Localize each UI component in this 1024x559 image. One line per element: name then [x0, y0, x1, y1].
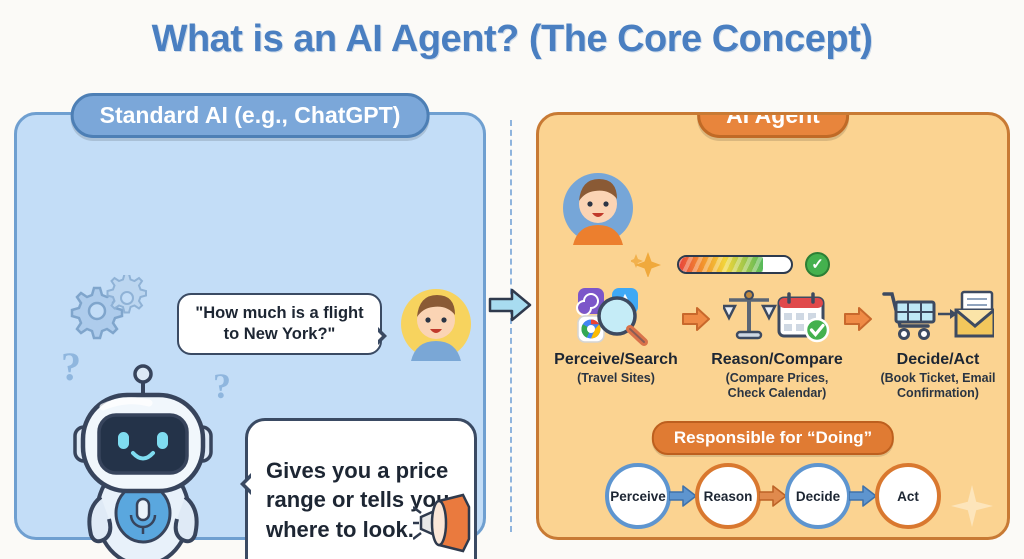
step-subtitle: (Book Ticket, Email Confirmation)	[873, 371, 1003, 401]
step-reason-icons	[711, 285, 843, 347]
step-reason-compare: Reason/Compare (Compare Prices, Check Ca…	[711, 285, 843, 401]
chain-node-decide: Decide	[785, 463, 851, 529]
calendar-check-icon	[779, 294, 828, 341]
step-title: Reason/Compare	[711, 351, 843, 369]
step-title: Decide/Act	[873, 351, 1003, 369]
user-avatar-icon	[561, 171, 635, 245]
step-arrow-icon	[843, 285, 873, 331]
chain-node-reason: Reason	[695, 463, 761, 529]
progress-bar-fill	[679, 257, 763, 272]
step-title: Perceive/Search	[551, 351, 681, 369]
ai-agent-header: AI Agent	[697, 112, 849, 138]
step-subtitle: (Compare Prices, Check Calendar)	[711, 371, 843, 401]
step-arrow-icon	[681, 285, 711, 331]
panel-divider	[510, 120, 512, 532]
step-decide-act: Decide/Act (Book Ticket, Email Confirmat…	[873, 285, 1003, 401]
scales-icon	[723, 291, 775, 338]
agent-steps-row: Perceive/Search (Travel Sites)	[551, 285, 1003, 401]
doing-badge: Responsible for “Doing”	[652, 421, 894, 455]
page-title: What is an AI Agent? (The Core Concept)	[0, 18, 1024, 61]
chain-arrow-icon	[848, 485, 878, 507]
envelope-icon	[956, 292, 994, 336]
ai-agent-panel: AI Agent "Book the cheapest flight to Ne…	[536, 112, 1010, 540]
step-subtitle: (Travel Sites)	[551, 371, 681, 386]
standard-ai-panel: Standard AI (e.g., ChatGPT) ? ?	[14, 112, 486, 540]
step-perceive-icons	[551, 285, 681, 347]
check-circle-icon: ✓	[805, 252, 830, 277]
standard-ai-header: Standard AI (e.g., ChatGPT)	[71, 93, 430, 138]
agent-loop-chain: Perceive Reason Decide Act	[605, 463, 941, 529]
chain-arrow-icon	[668, 485, 698, 507]
user-avatar-icon	[399, 287, 473, 361]
chain-arrow-icon	[758, 485, 788, 507]
infographic-canvas: What is an AI Agent? (The Core Concept) …	[0, 0, 1024, 559]
gears-icon	[57, 275, 149, 345]
user-question-bubble: "How much is a flight to New York?"	[177, 293, 382, 355]
step-decide-icons	[873, 285, 1003, 347]
chain-node-perceive: Perceive	[605, 463, 671, 529]
chain-node-act: Act	[875, 463, 941, 529]
task-progress-row: ✓	[631, 251, 830, 277]
step-perceive-search: Perceive/Search (Travel Sites)	[551, 285, 681, 386]
small-arrow-icon	[938, 309, 957, 319]
user-question-text: "How much is a flight to New York?"	[191, 303, 368, 345]
chat-robot-icon	[63, 363, 223, 559]
right-arrow-icon	[488, 288, 532, 322]
megaphone-icon	[413, 493, 477, 553]
sparkle-icon	[631, 251, 665, 277]
shopping-cart-icon	[884, 294, 934, 339]
progress-bar	[677, 255, 793, 274]
